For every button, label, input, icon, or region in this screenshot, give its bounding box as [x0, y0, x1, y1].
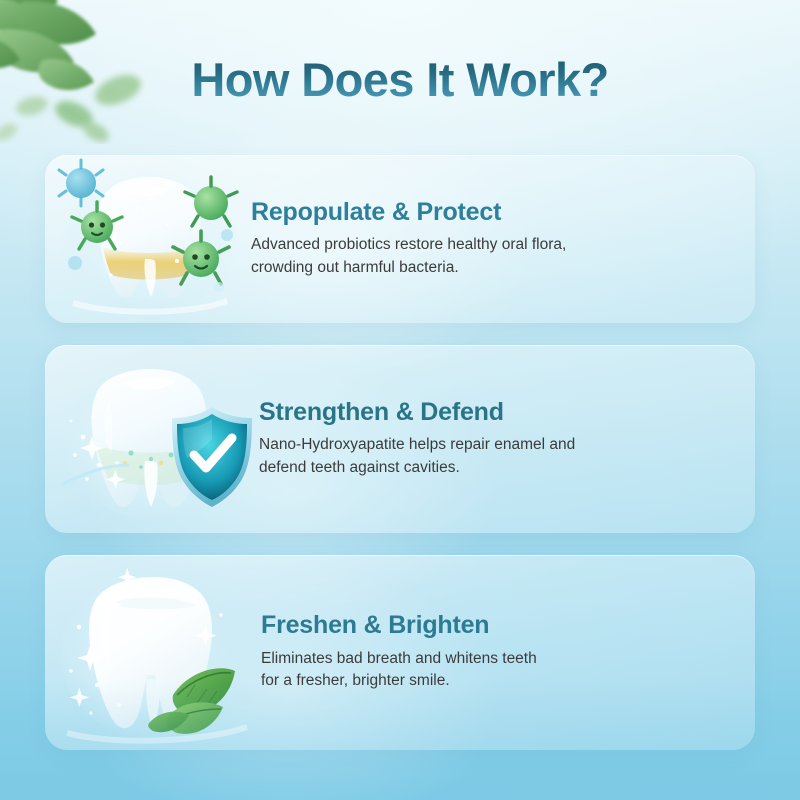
poster-canvas: How Does It Work? [0, 0, 800, 800]
card-body-line-1: Advanced probiotics restore healthy oral… [251, 234, 651, 256]
feature-card-list: Repopulate & Protect Advanced probiotics… [45, 155, 755, 750]
feature-card-freshen[interactable]: Freshen & Brighten Eliminates bad breath… [45, 555, 755, 750]
card-heading: Repopulate & Protect [251, 199, 725, 227]
card-heading: Freshen & Brighten [261, 612, 725, 640]
card-heading: Strengthen & Defend [259, 399, 725, 427]
page-title-text: How Does It Work? [191, 52, 608, 107]
card-body-line-2: crowding out harmful bacteria. [251, 257, 651, 279]
tooth-with-mint-icon [61, 555, 261, 750]
feature-card-repopulate[interactable]: Repopulate & Protect Advanced probiotics… [45, 155, 755, 323]
card-copy: Strengthen & Defend Nano-Hydroxyapatite … [259, 399, 755, 479]
card-body-line-1: Eliminates bad breath and whitens teeth [261, 648, 661, 670]
page-title: How Does It Work? [0, 52, 800, 107]
feature-card-strengthen[interactable]: Strengthen & Defend Nano-Hydroxyapatite … [45, 345, 755, 533]
card-body-line-2: for a fresher, brighter smile. [261, 670, 661, 692]
card-body-line-2: defend teeth against cavities. [259, 457, 667, 479]
tooth-with-germs-icon [51, 155, 247, 323]
card-copy: Freshen & Brighten Eliminates bad breath… [261, 612, 755, 692]
tooth-with-shield-icon [59, 345, 259, 533]
card-copy: Repopulate & Protect Advanced probiotics… [247, 199, 755, 279]
card-body-line-1: Nano-Hydroxyapatite helps repair enamel … [259, 434, 667, 456]
